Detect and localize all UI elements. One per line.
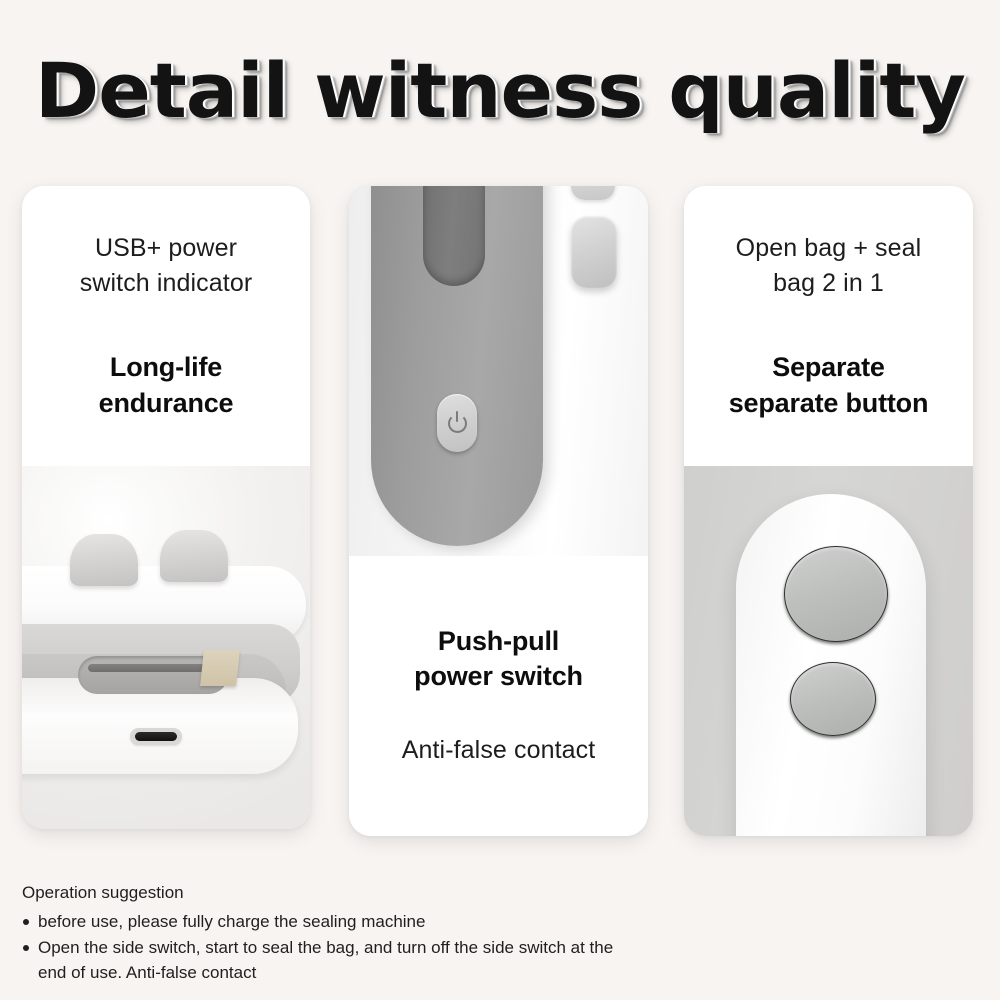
headline-container: Detail witness quality: [0, 46, 1000, 135]
operation-suggestion-list: before use, please fully charge the seal…: [22, 910, 642, 986]
feature-card-separate-button[interactable]: Open bag + seal bag 2 in 1 Separate sepa…: [684, 186, 973, 836]
sealer-usb-c-side-photo: [22, 466, 310, 829]
power-button[interactable]: [437, 394, 477, 452]
card-3-subtitle-line-2: bag 2 in 1: [773, 266, 884, 302]
operation-suggestion-text: Open the side switch, start to seal the …: [38, 938, 613, 982]
card-1-title-line-1: Long-life: [110, 350, 222, 386]
card-1-subtitle-line-1: USB+ power: [95, 231, 237, 267]
card-3-title-line-1: Separate: [772, 350, 884, 386]
operation-suggestion-text: before use, please fully charge the seal…: [38, 912, 425, 931]
power-icon: [448, 414, 467, 433]
usb-c-port-icon: [130, 728, 182, 745]
operation-suggestion-title: Operation suggestion: [22, 880, 642, 906]
card-1-subtitle-line-2: switch indicator: [80, 266, 253, 302]
device-button-right: [160, 530, 228, 582]
card-2-text-panel: Push-pull power switch Anti-false contac…: [349, 556, 648, 836]
separate-button-lower[interactable]: [790, 662, 876, 736]
operation-suggestion-section: Operation suggestion before use, please …: [22, 880, 642, 987]
list-item: Open the side switch, start to seal the …: [22, 936, 642, 985]
card-2-title-line-2: power switch: [414, 659, 583, 695]
card-1-text-panel: USB+ power switch indicator Long-life en…: [22, 186, 310, 466]
card-1-title-line-2: endurance: [99, 386, 234, 422]
device-button-left: [70, 534, 138, 586]
dual-round-buttons-photo: [684, 466, 973, 836]
device-recessed-channel: [423, 186, 485, 286]
bullet-icon: [23, 945, 29, 951]
bullet-icon: [23, 919, 29, 925]
card-2-subtitle-line-1: Anti-false contact: [402, 733, 596, 769]
power-button-closeup-photo: [349, 186, 648, 556]
list-item: before use, please fully charge the seal…: [22, 910, 642, 935]
page-title: Detail witness quality: [35, 46, 965, 135]
feature-cards-row: USB+ power switch indicator Long-life en…: [0, 186, 1000, 842]
card-3-title-line-2: separate button: [729, 386, 929, 422]
heating-strip: [200, 650, 240, 686]
card-3-text-panel: Open bag + seal bag 2 in 1 Separate sepa…: [684, 186, 973, 466]
feature-card-push-pull-power-switch[interactable]: Push-pull power switch Anti-false contac…: [349, 186, 648, 836]
card-3-subtitle-line-1: Open bag + seal: [736, 231, 922, 267]
feature-card-usb-power-switch-indicator[interactable]: USB+ power switch indicator Long-life en…: [22, 186, 310, 829]
separate-button-upper[interactable]: [784, 546, 888, 642]
push-pull-slider-knob[interactable]: [571, 216, 617, 288]
card-2-title-line-1: Push-pull: [438, 624, 559, 660]
